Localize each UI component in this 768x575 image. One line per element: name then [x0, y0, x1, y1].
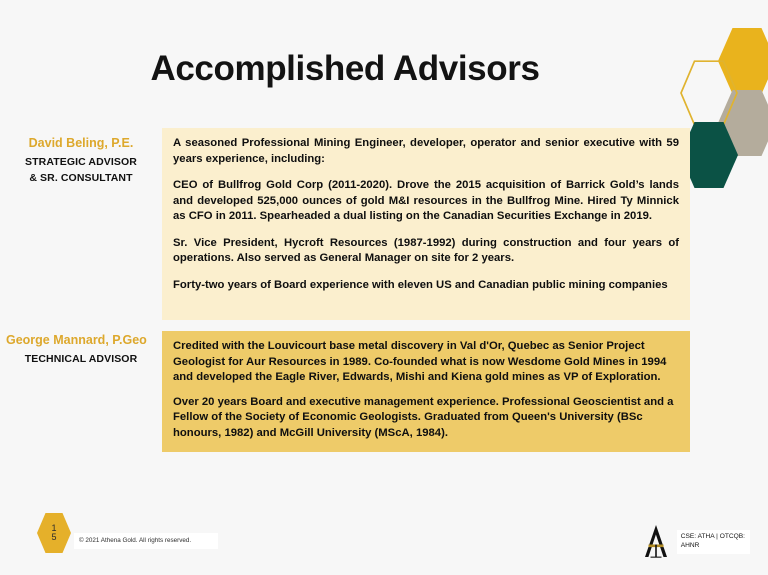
slide-root: Accomplished Advisors David Beling, P.E.… [0, 0, 768, 575]
hexagon-decoration-cluster [678, 0, 768, 200]
page-number-hexagon: 1 5 [37, 513, 71, 553]
advisor-role-2-line-1: TECHNICAL ADVISOR [0, 352, 162, 367]
advisor-label-group-1: David Beling, P.E. STRATEGIC ADVISOR & S… [0, 136, 162, 186]
gray-solid-hexagon-icon [718, 90, 768, 156]
page-number-digit-2: 5 [51, 533, 56, 542]
copyright-text: © 2021 Athena Gold. All rights reserved. [74, 533, 218, 549]
slide-title: Accomplished Advisors [0, 50, 690, 89]
advisor-2-bio-paragraph-1: Credited with the Louvicourt base metal … [173, 339, 679, 386]
advisor-bio-box-2: Credited with the Louvicourt base metal … [162, 331, 690, 452]
advisor-1-bio-paragraph-2: CEO of Bullfrog Gold Corp (2011-2020). D… [173, 178, 679, 225]
advisor-name-1: David Beling, P.E. [0, 136, 162, 152]
advisor-role-1-line-1: STRATEGIC ADVISOR [0, 155, 162, 170]
advisor-1-bio-paragraph-3: Sr. Vice President, Hycroft Resources (1… [173, 236, 679, 267]
page-number: 1 5 [37, 513, 71, 553]
advisor-1-bio-paragraph-1: A seasoned Professional Mining Engineer,… [173, 136, 679, 167]
gold-solid-hexagon-icon [718, 28, 768, 94]
ticker-line-2: AHNR [681, 542, 745, 551]
advisor-1-bio-paragraph-4: Forty-two years of Board experience with… [173, 278, 679, 294]
athena-a-logo-icon [641, 524, 671, 560]
advisor-bio-box-1: A seasoned Professional Mining Engineer,… [162, 128, 690, 320]
advisor-role-1-line-2: & SR. CONSULTANT [0, 171, 162, 186]
brand-block: CSE: ATHA | OTCQB: AHNR [641, 524, 750, 560]
ticker-line-1: CSE: ATHA | OTCQB: [681, 533, 745, 542]
advisor-2-bio-paragraph-2: Over 20 years Board and executive manage… [173, 395, 679, 442]
advisor-name-2: George Mannard, P.Geo [0, 333, 162, 349]
advisor-label-group-2: George Mannard, P.Geo TECHNICAL ADVISOR [0, 333, 162, 367]
stock-ticker-text: CSE: ATHA | OTCQB: AHNR [677, 530, 750, 554]
